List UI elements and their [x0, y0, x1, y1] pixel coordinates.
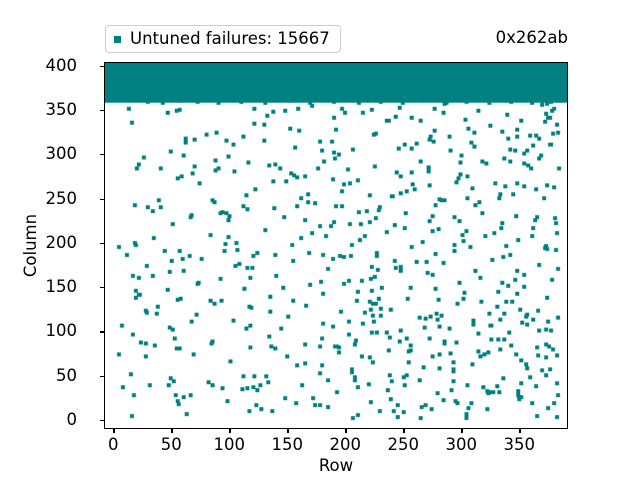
y-tick-mark	[100, 287, 104, 288]
x-tick-label: 150	[272, 437, 304, 454]
y-tick-label: 350	[46, 102, 78, 119]
plot-title: 0x262ab	[496, 30, 568, 47]
y-tick-mark	[100, 331, 104, 332]
y-tick-mark	[100, 199, 104, 200]
x-axis-label: Row	[104, 458, 568, 475]
legend-square-marker-icon	[114, 36, 121, 43]
y-tick-label: 200	[46, 235, 78, 252]
x-tick-mark	[461, 429, 462, 433]
y-tick-mark	[100, 66, 104, 67]
y-tick-label: 0	[67, 412, 78, 429]
x-tick-mark	[113, 429, 114, 433]
y-tick-label: 400	[46, 58, 78, 75]
y-tick-label: 50	[56, 368, 77, 385]
x-tick-label: 100	[214, 437, 246, 454]
x-tick-mark	[229, 429, 230, 433]
x-tick-label: 350	[504, 437, 536, 454]
x-tick-mark	[403, 429, 404, 433]
legend-box: Untuned failures: 15667	[105, 25, 341, 53]
x-tick-mark	[345, 429, 346, 433]
y-tick-mark	[100, 110, 104, 111]
plot-axes	[104, 62, 568, 429]
y-tick-mark	[100, 154, 104, 155]
scatter-plot-canvas	[105, 63, 567, 428]
legend-label: Untuned failures: 15667	[130, 31, 330, 48]
y-tick-mark	[100, 420, 104, 421]
x-tick-label: 250	[388, 437, 420, 454]
matplotlib-figure: 0501001502002503003504000501001502002503…	[0, 0, 640, 480]
y-tick-label: 250	[46, 191, 78, 208]
y-axis-label-text: Column	[22, 214, 41, 277]
y-tick-mark	[100, 243, 104, 244]
y-tick-label: 100	[46, 323, 78, 340]
x-tick-label: 200	[330, 437, 362, 454]
y-axis-label: Column	[22, 62, 40, 429]
x-tick-mark	[519, 429, 520, 433]
y-tick-label: 300	[46, 146, 78, 163]
y-tick-mark	[100, 376, 104, 377]
y-tick-label: 150	[46, 279, 78, 296]
x-tick-label: 0	[108, 437, 119, 454]
x-tick-mark	[171, 429, 172, 433]
x-tick-label: 300	[446, 437, 478, 454]
x-tick-label: 50	[161, 437, 182, 454]
x-tick-mark	[287, 429, 288, 433]
